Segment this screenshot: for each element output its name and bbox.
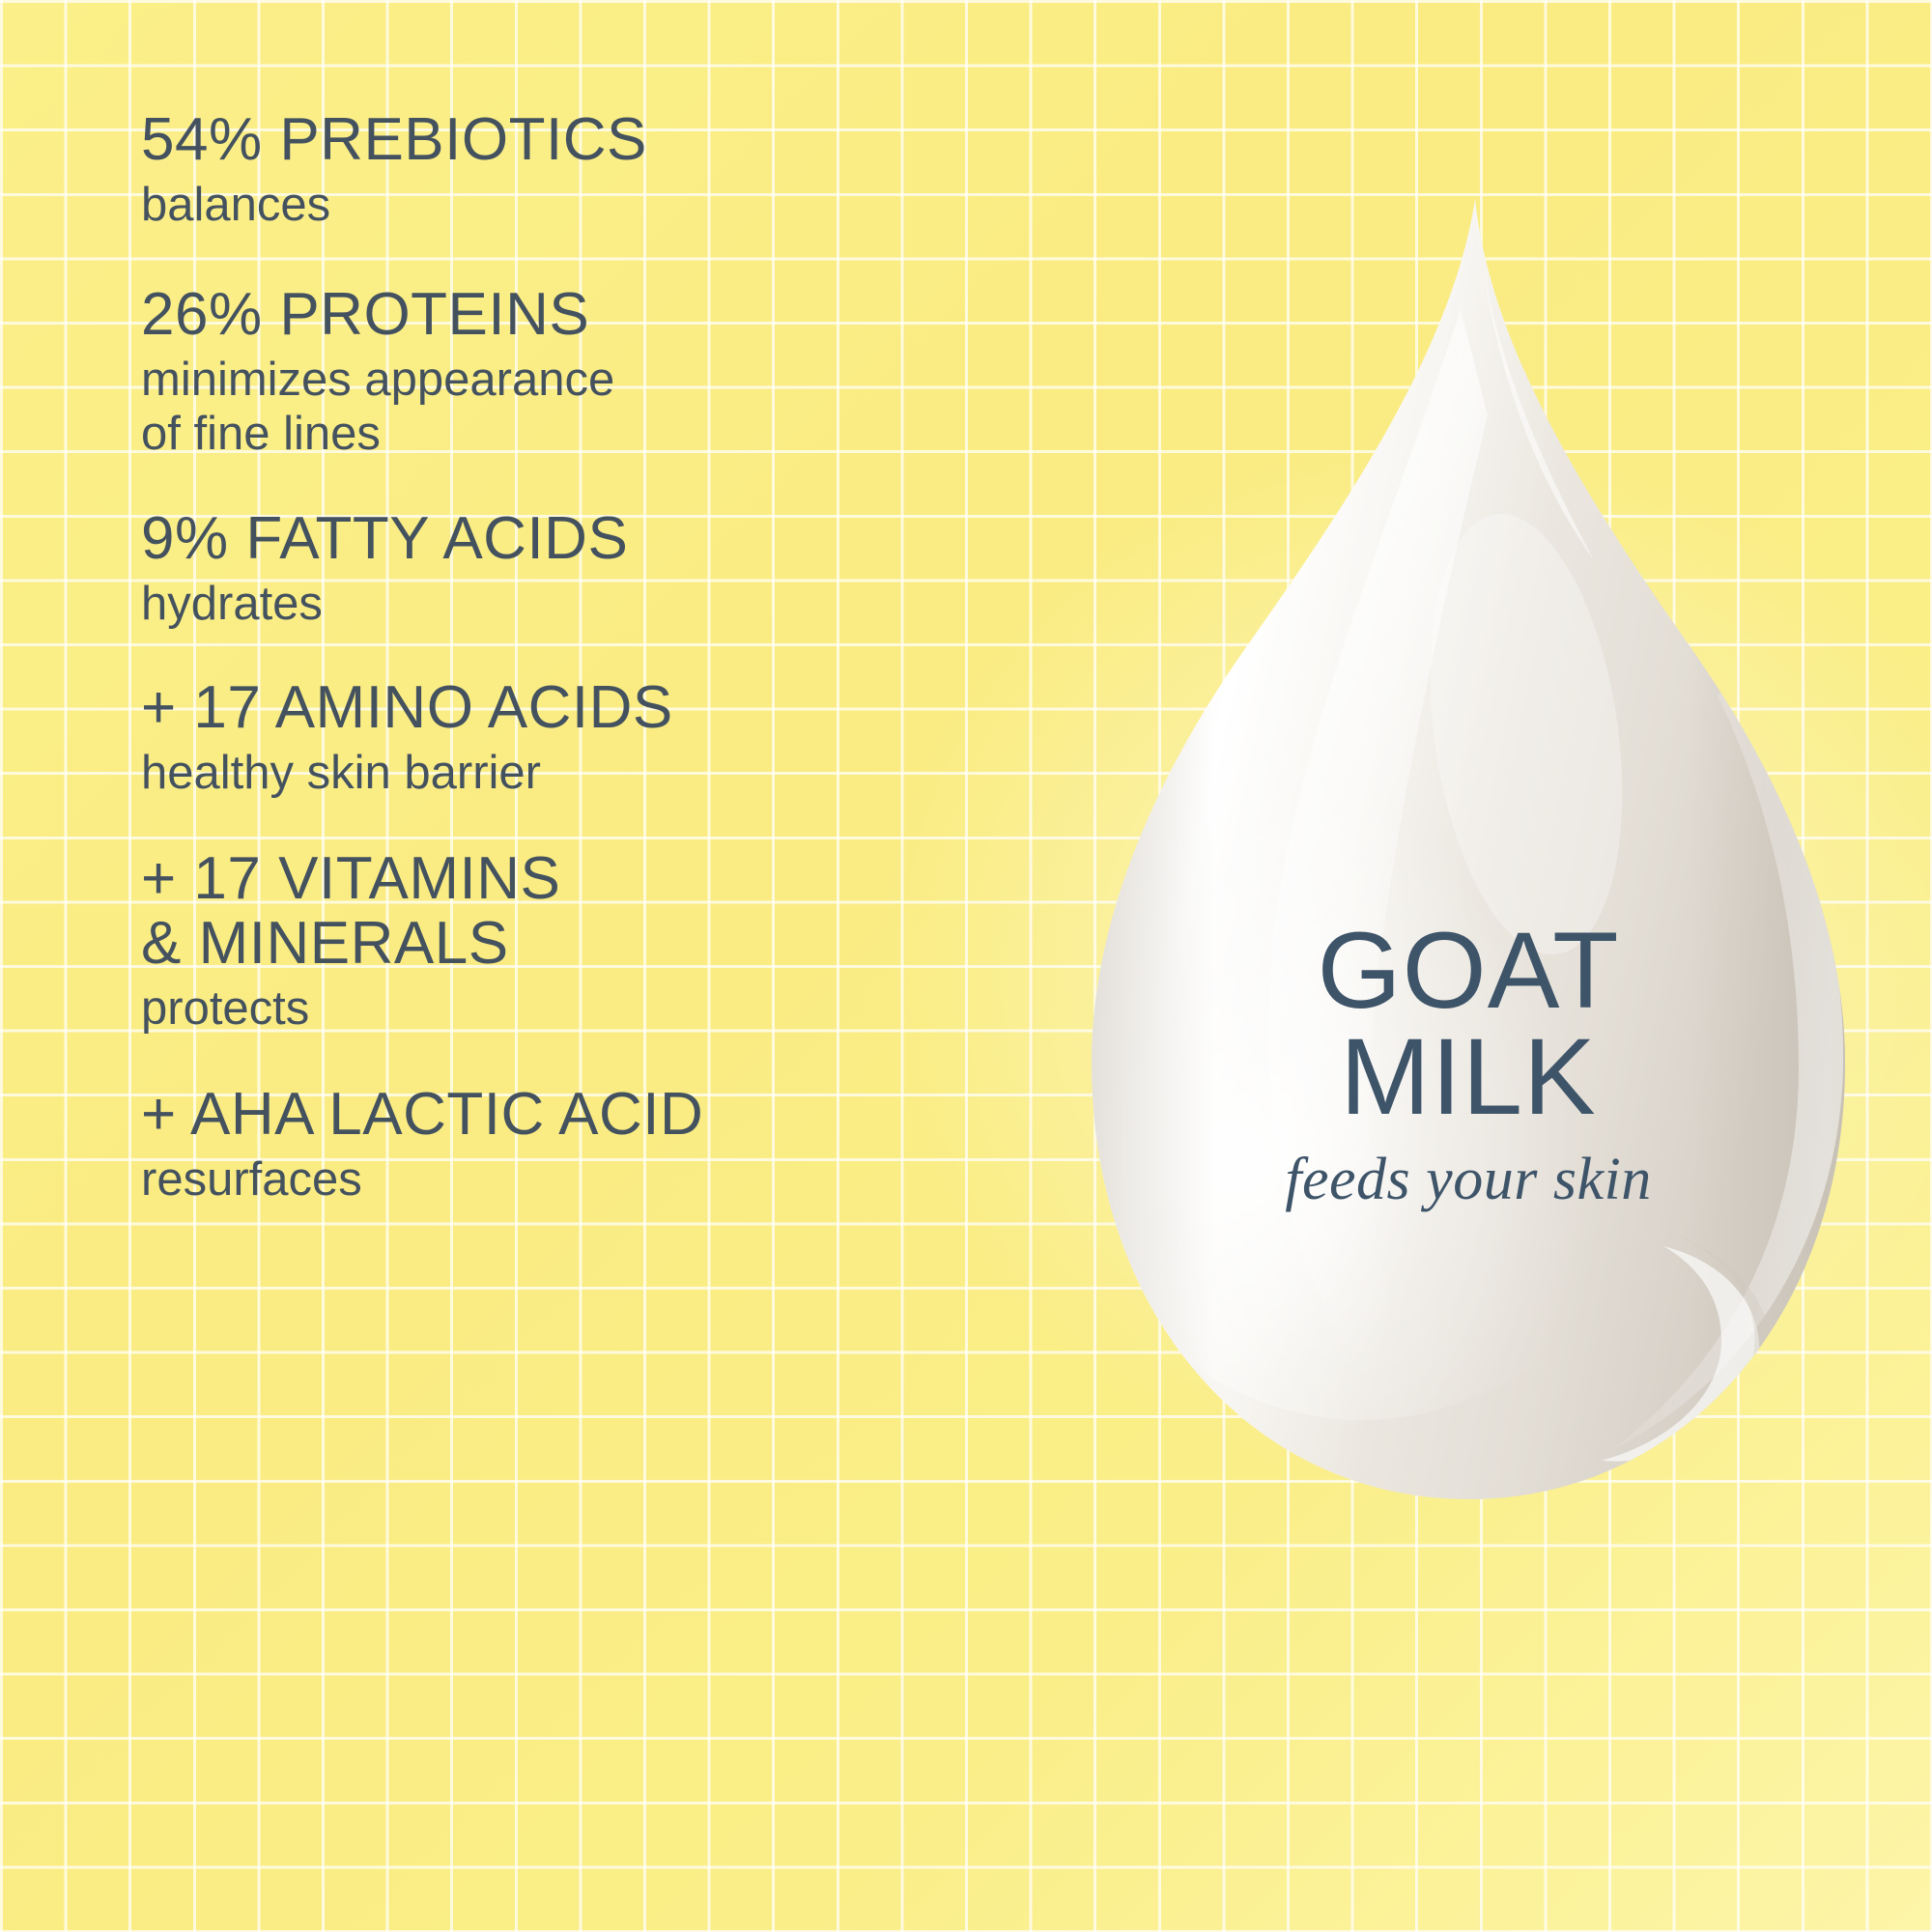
benefit-title: 26% PROTEINS — [141, 283, 952, 348]
benefit-item: 9% FATTY ACIDS hydrates — [141, 507, 952, 632]
benefit-title: + 17 AMINO ACIDS — [141, 676, 952, 741]
benefits-list: 54% PREBIOTICS balances 26% PROTEINS min… — [141, 108, 952, 1207]
benefit-item: + AHA LACTIC ACID resurfaces — [141, 1083, 952, 1207]
benefit-title: 9% FATTY ACIDS — [141, 507, 952, 572]
benefit-item: 26% PROTEINS minimizes appearance of fin… — [141, 283, 952, 462]
benefit-item: 54% PREBIOTICS balances — [141, 108, 952, 233]
benefit-subtitle: hydrates — [141, 578, 952, 632]
benefit-item: + 17 VITAMINS & MINERALS protects — [141, 847, 952, 1037]
poster-canvas: 54% PREBIOTICS balances 26% PROTEINS min… — [0, 0, 1932, 1932]
benefit-subtitle: protects — [141, 982, 952, 1037]
benefit-subtitle: minimizes appearance of fine lines — [141, 354, 952, 462]
milk-droplet-icon — [1072, 193, 1864, 1565]
benefit-subtitle: healthy skin barrier — [141, 747, 952, 801]
droplet-graphic: GOAT MILK feeds your skin — [1072, 193, 1864, 1565]
benefit-title: + 17 VITAMINS & MINERALS — [141, 847, 952, 977]
benefit-subtitle: balances — [141, 179, 952, 233]
benefit-subtitle: resurfaces — [141, 1153, 952, 1207]
benefit-title: + AHA LACTIC ACID — [141, 1083, 952, 1148]
benefit-title: 54% PREBIOTICS — [141, 108, 952, 173]
benefit-item: + 17 AMINO ACIDS healthy skin barrier — [141, 676, 952, 801]
